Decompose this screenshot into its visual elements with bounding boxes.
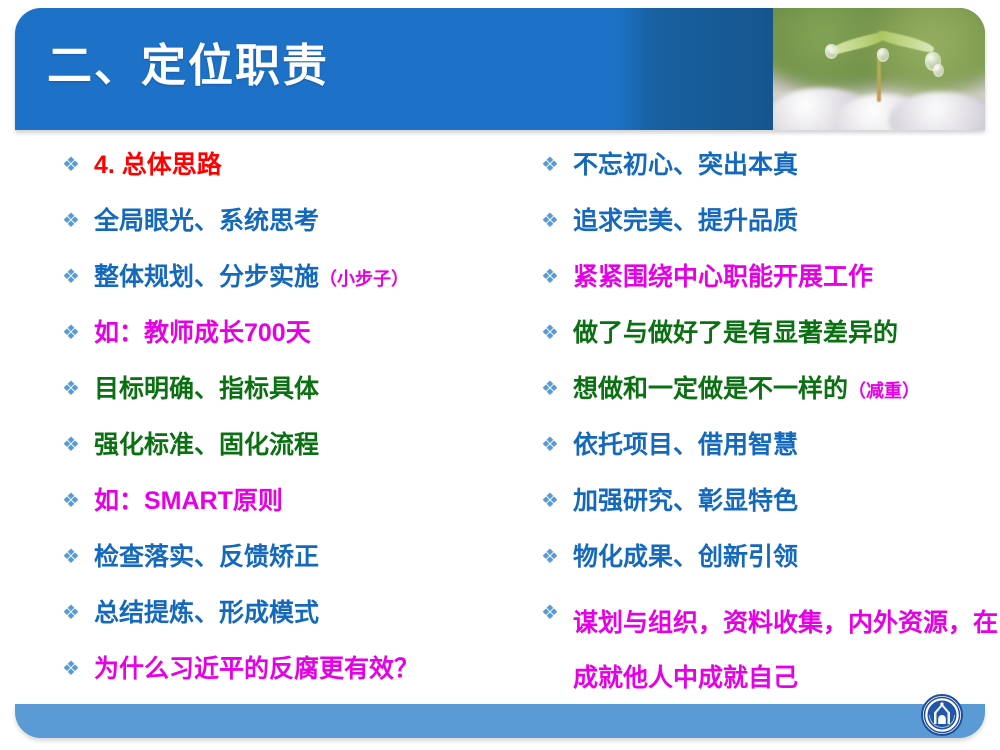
bullet-diamond-icon: ❖ <box>541 372 573 406</box>
water-droplet-icon <box>825 44 838 59</box>
right-bullet-item: ❖做了与做好了是有显著差异的 <box>541 316 1000 372</box>
bullet-diamond-icon: ❖ <box>62 316 94 350</box>
left-bullet-main-text: 总结提炼、形成模式 <box>94 599 319 627</box>
left-bullet-label: 4. 总体思路 <box>94 148 523 182</box>
left-bullet-item: ❖如：SMART原则 <box>62 484 523 540</box>
right-bullet-main-text: 追求完美、提升品质 <box>573 207 798 235</box>
bullet-diamond-icon: ❖ <box>541 204 573 238</box>
left-bullet-main-text: 4. 总体思路 <box>94 151 222 179</box>
right-bullet-label: 不忘初心、突出本真 <box>573 148 1000 182</box>
right-bullet-main-text: 做了与做好了是有显著差异的 <box>573 319 898 347</box>
bullet-diamond-icon: ❖ <box>62 484 94 518</box>
water-droplet-icon <box>877 48 889 62</box>
bullet-diamond-icon: ❖ <box>62 652 94 686</box>
presentation-slide: 二、定位职责 ❖4. 总体思路❖全局眼光、系统思考❖整体规划、分步实施（小步子）… <box>0 0 1000 750</box>
left-bullet-item: ❖4. 总体思路 <box>62 148 523 204</box>
right-bullet-main-text: 不忘初心、突出本真 <box>573 151 798 179</box>
left-bullet-label: 如：SMART原则 <box>94 484 523 518</box>
right-bullet-label: 追求完美、提升品质 <box>573 204 1000 238</box>
left-bullet-item: ❖总结提炼、形成模式 <box>62 596 523 652</box>
left-bullet-item: ❖强化标准、固化流程 <box>62 428 523 484</box>
left-bullet-item: ❖全局眼光、系统思考 <box>62 204 523 260</box>
right-bullet-item: ❖物化成果、创新引领 <box>541 540 1000 596</box>
left-bullet-item: ❖为什么习近平的反腐更有效？ <box>62 652 523 708</box>
right-bullet-label: 紧紧围绕中心职能开展工作 <box>573 260 1000 294</box>
right-bullet-item: ❖不忘初心、突出本真 <box>541 148 1000 204</box>
bullet-diamond-icon: ❖ <box>62 204 94 238</box>
right-bullet-label: 谋划与组织，资料收集，内外资源，在成就他人中成就自己 <box>573 596 1000 706</box>
left-bullet-label: 强化标准、固化流程 <box>94 428 523 462</box>
left-bullet-label: 为什么习近平的反腐更有效？ <box>94 652 523 686</box>
slide-footer-bar <box>15 704 985 738</box>
left-bullet-main-text: 目标明确、指标具体 <box>94 375 319 403</box>
left-bullet-main-text: 全局眼光、系统思考 <box>94 207 319 235</box>
bullet-diamond-icon: ❖ <box>62 428 94 462</box>
right-bullet-item: ❖依托项目、借用智慧 <box>541 428 1000 484</box>
page-title: 二、定位职责 <box>47 36 329 96</box>
left-bullet-label: 目标明确、指标具体 <box>94 372 523 406</box>
right-bullet-main-text: 加强研究、彰显特色 <box>573 487 798 515</box>
right-bullet-item: ❖紧紧围绕中心职能开展工作 <box>541 260 1000 316</box>
left-bullet-label: 如：教师成长700天 <box>94 316 523 350</box>
school-seal-emblem-icon <box>921 694 963 736</box>
bullet-diamond-icon: ❖ <box>541 148 573 182</box>
left-bullet-main-text: 检查落实、反馈矫正 <box>94 543 319 571</box>
right-bullet-main-text: 谋划与组织，资料收集，内外资源，在成就他人中成就自己 <box>573 609 998 692</box>
seedling-photo <box>773 8 985 130</box>
bullet-column-left: ❖4. 总体思路❖全局眼光、系统思考❖整体规划、分步实施（小步子）❖如：教师成长… <box>0 148 523 708</box>
right-bullet-item: ❖加强研究、彰显特色 <box>541 484 1000 540</box>
left-bullet-main-text: 如：SMART原则 <box>94 487 283 515</box>
bullet-diamond-icon: ❖ <box>62 540 94 574</box>
right-bullet-main-text: 紧紧围绕中心职能开展工作 <box>573 263 873 291</box>
right-bullet-annotation: （减重） <box>848 381 920 401</box>
slide-content: ❖4. 总体思路❖全局眼光、系统思考❖整体规划、分步实施（小步子）❖如：教师成长… <box>0 148 1000 708</box>
left-bullet-main-text: 如：教师成长700天 <box>94 319 311 347</box>
left-bullet-label: 全局眼光、系统思考 <box>94 204 523 238</box>
left-bullet-item: ❖如：教师成长700天 <box>62 316 523 372</box>
right-bullet-label: 加强研究、彰显特色 <box>573 484 1000 518</box>
left-bullet-annotation: （小步子） <box>319 269 409 289</box>
left-bullet-item: ❖检查落实、反馈矫正 <box>62 540 523 596</box>
bullet-diamond-icon: ❖ <box>62 596 94 630</box>
left-bullet-label: 检查落实、反馈矫正 <box>94 540 523 574</box>
right-bullet-label: 做了与做好了是有显著差异的 <box>573 316 1000 350</box>
right-bullet-item: ❖追求完美、提升品质 <box>541 204 1000 260</box>
right-bullet-item: ❖谋划与组织，资料收集，内外资源，在成就他人中成就自己 <box>541 596 1000 708</box>
bullet-diamond-icon: ❖ <box>541 484 573 518</box>
slide-header-banner: 二、定位职责 <box>15 8 985 130</box>
left-bullet-main-text: 整体规划、分步实施 <box>94 263 319 291</box>
left-bullet-main-text: 强化标准、固化流程 <box>94 431 319 459</box>
bullet-diamond-icon: ❖ <box>62 372 94 406</box>
bullet-diamond-icon: ❖ <box>541 428 573 462</box>
right-bullet-main-text: 想做和一定做是不一样的 <box>573 375 848 403</box>
bullet-diamond-icon: ❖ <box>541 596 573 630</box>
left-bullet-item: ❖目标明确、指标具体 <box>62 372 523 428</box>
right-bullet-main-text: 依托项目、借用智慧 <box>573 431 798 459</box>
bullet-diamond-icon: ❖ <box>541 316 573 350</box>
right-bullet-main-text: 物化成果、创新引领 <box>573 543 798 571</box>
right-bullet-label: 想做和一定做是不一样的（减重） <box>573 372 1000 408</box>
left-bullet-main-text: 为什么习近平的反腐更有效？ <box>94 655 419 683</box>
right-bullet-item: ❖想做和一定做是不一样的（减重） <box>541 372 1000 428</box>
bullet-diamond-icon: ❖ <box>62 260 94 294</box>
left-bullet-item: ❖整体规划、分步实施（小步子） <box>62 260 523 316</box>
left-bullet-label: 总结提炼、形成模式 <box>94 596 523 630</box>
right-bullet-label: 物化成果、创新引领 <box>573 540 1000 574</box>
right-bullet-label: 依托项目、借用智慧 <box>573 428 1000 462</box>
bullet-diamond-icon: ❖ <box>541 260 573 294</box>
bullet-diamond-icon: ❖ <box>62 148 94 182</box>
water-droplet-icon <box>933 64 944 77</box>
left-bullet-label: 整体规划、分步实施（小步子） <box>94 260 523 296</box>
bullet-diamond-icon: ❖ <box>541 540 573 574</box>
bullet-column-right: ❖不忘初心、突出本真❖追求完美、提升品质❖紧紧围绕中心职能开展工作❖做了与做好了… <box>523 148 1000 708</box>
